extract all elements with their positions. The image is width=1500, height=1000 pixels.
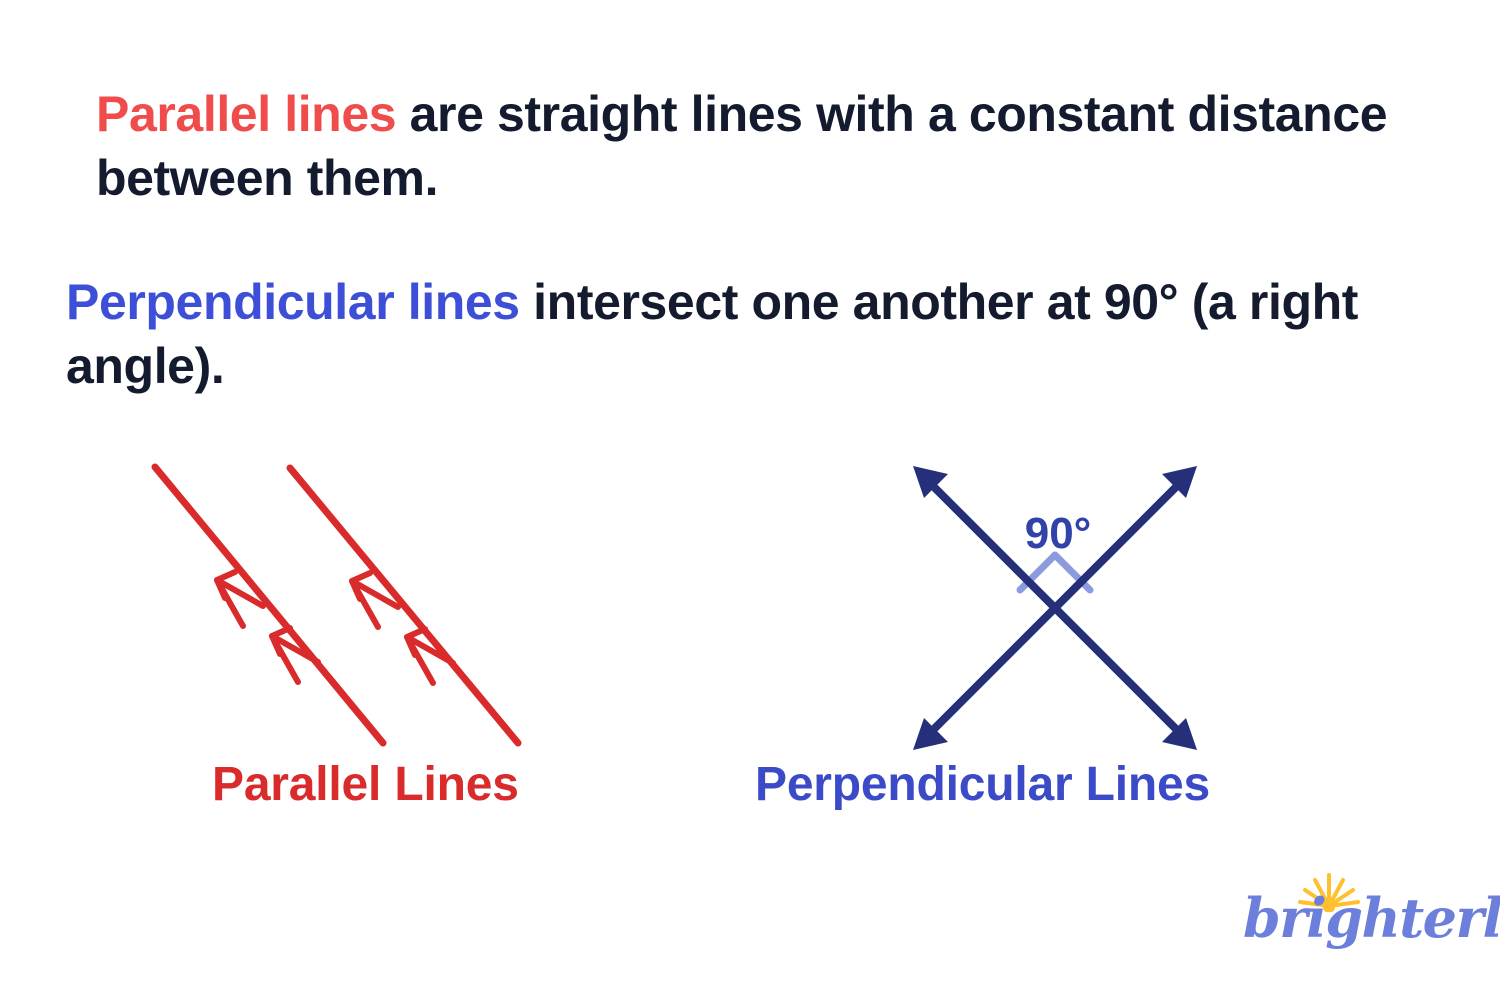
parallel-line-2-tick-2 [407,637,453,683]
parallel-line-2 [290,468,518,743]
diagram-row: 90° [0,420,1500,770]
parallel-line-1-tick-2 [272,636,318,682]
perpendicular-lines-svg: 90° [880,430,1240,770]
parallel-lines-figure [120,430,590,770]
keyword-parallel-lines: Parallel lines [96,86,396,142]
statement-parallel: Parallel lines are straight lines with a… [96,82,1426,210]
caption-perpendicular-lines: Perpendicular Lines [755,757,1210,812]
perpendicular-lines-figure: 90° [880,430,1240,770]
slide-canvas: Parallel lines are straight lines with a… [0,0,1500,1000]
brighterly-logo: brighterly [1243,868,1453,954]
keyword-perpendicular-lines: Perpendicular lines [66,274,520,330]
brighterly-wordmark: brighterly [1243,886,1500,950]
parallel-lines-svg [120,430,590,770]
caption-parallel-lines: Parallel Lines [212,757,519,812]
angle-label-90: 90° [1025,509,1092,558]
statement-perpendicular: Perpendicular lines intersect one anothe… [66,270,1456,398]
parallel-line-1 [155,467,383,743]
